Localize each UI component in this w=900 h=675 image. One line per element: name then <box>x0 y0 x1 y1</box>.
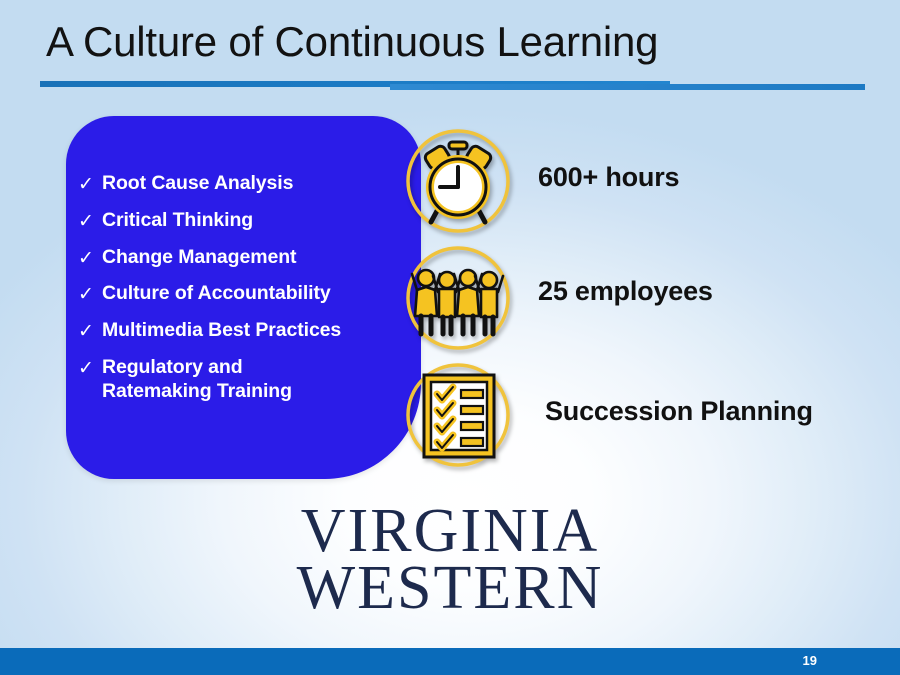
list-item: ✓ Critical Thinking <box>78 209 408 233</box>
checklist-clipboard-icon <box>404 361 512 469</box>
list-item: ✓ Regulatory and Ratemaking Training <box>78 356 408 404</box>
virginia-western-logo: VIRGINIA WESTERN <box>0 503 900 617</box>
list-item: ✓ Root Cause Analysis <box>78 172 408 196</box>
check-icon: ✓ <box>78 246 102 268</box>
logo-line-2: WESTERN <box>0 560 900 617</box>
skills-list: ✓ Root Cause Analysis ✓ Critical Thinkin… <box>78 172 408 416</box>
check-icon: ✓ <box>78 209 102 231</box>
slide-canvas: A Culture of Continuous Learning ✓ Root … <box>0 0 900 675</box>
footer-bar: 19 <box>0 648 900 675</box>
stat-label-employees: 25 employees <box>538 276 713 307</box>
stat-label-succession: Succession Planning <box>545 396 813 427</box>
page-title: A Culture of Continuous Learning <box>46 18 658 66</box>
title-underline-right <box>390 84 865 90</box>
check-icon: ✓ <box>78 282 102 304</box>
page-number: 19 <box>803 653 817 668</box>
list-item-label: Regulatory and Ratemaking Training <box>102 356 292 404</box>
list-item-label: Multimedia Best Practices <box>102 319 341 343</box>
group-of-people-icon <box>404 244 512 352</box>
check-icon: ✓ <box>78 356 102 378</box>
stat-label-hours: 600+ hours <box>538 162 679 193</box>
list-item-label: Critical Thinking <box>102 209 253 233</box>
list-item-label: Root Cause Analysis <box>102 172 293 196</box>
list-item: ✓ Culture of Accountability <box>78 282 408 306</box>
list-item: ✓ Multimedia Best Practices <box>78 319 408 343</box>
check-icon: ✓ <box>78 319 102 341</box>
list-item-label: Change Management <box>102 246 296 270</box>
logo-line-1: VIRGINIA <box>0 503 900 560</box>
list-item: ✓ Change Management <box>78 246 408 270</box>
list-item-label: Culture of Accountability <box>102 282 331 306</box>
check-icon: ✓ <box>78 172 102 194</box>
alarm-clock-icon <box>404 127 512 235</box>
